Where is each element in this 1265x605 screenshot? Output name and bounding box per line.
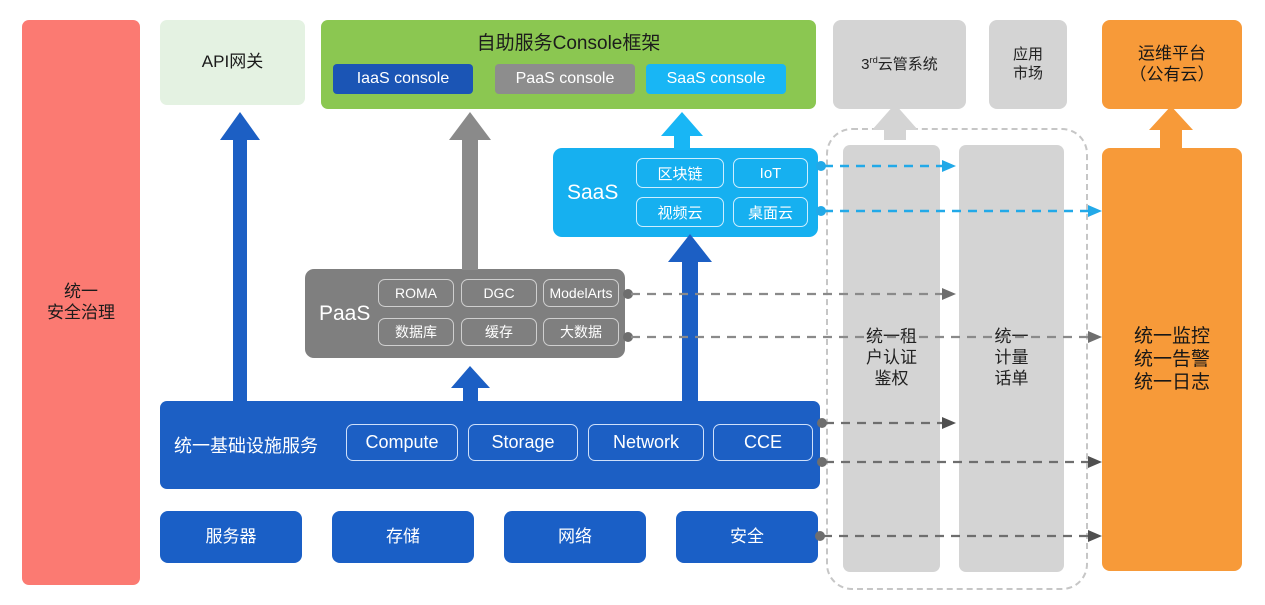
ops-line-3: 统一日志 xyxy=(1134,371,1210,394)
paas-label: PaaS xyxy=(319,269,370,358)
arrow-infra-to-apigw xyxy=(220,112,260,405)
chip-infra-network[interactable]: Network xyxy=(588,424,704,461)
panel-resource-server[interactable]: 服务器 xyxy=(160,511,302,563)
security-line-2: 安全治理 xyxy=(47,303,115,324)
chip-infra-storage[interactable]: Storage xyxy=(468,424,578,461)
chip-paas-roma[interactable]: ROMA xyxy=(378,279,454,307)
ops-line-1: 统一监控 xyxy=(1134,325,1210,348)
chip-paas-cache[interactable]: 缓存 xyxy=(461,318,537,346)
panel-resource-network[interactable]: 网络 xyxy=(504,511,646,563)
arrow-saas-to-console xyxy=(661,112,703,150)
arrow-paas-to-console xyxy=(449,112,491,270)
security-line-1: 统一 xyxy=(64,282,98,303)
panel-app-market: 应用 市场 xyxy=(989,20,1067,109)
panel-unified-security: 统一 安全治理 xyxy=(22,20,140,585)
app-market-line-2: 市场 xyxy=(1013,65,1043,83)
tenant-auth-line-2: 户认证 xyxy=(866,348,917,369)
metering-line-1: 统一 xyxy=(995,327,1029,348)
panel-ops-platform-public-cloud: 运维平台 （公有云） xyxy=(1102,20,1242,109)
ops-top-line-2: （公有云） xyxy=(1130,65,1215,86)
pill-saas-console[interactable]: SaaS console xyxy=(646,64,786,94)
panel-third-party-cloud-mgmt: 3rd云管系统 xyxy=(833,20,966,109)
saas-label: SaaS xyxy=(567,148,618,237)
api-gateway-label: API网关 xyxy=(202,52,263,73)
panel-resource-storage[interactable]: 存储 xyxy=(332,511,474,563)
ops-top-line-1: 运维平台 xyxy=(1138,44,1206,65)
column-unified-metering-billing: 统一 计量 话单 xyxy=(959,145,1064,572)
arrow-infra-to-saas xyxy=(668,234,712,402)
panel-console-framework: 自助服务Console框架 IaaS console PaaS console … xyxy=(321,20,816,109)
panel-saas: SaaS 区块链 IoT 视频云 桌面云 xyxy=(553,148,818,237)
panel-unified-infrastructure: 统一基础设施服务 Compute Storage Network CCE xyxy=(160,401,820,489)
pill-paas-console[interactable]: PaaS console xyxy=(495,64,635,94)
pill-iaas-console[interactable]: IaaS console xyxy=(333,64,473,94)
panel-resource-security[interactable]: 安全 xyxy=(676,511,818,563)
panel-paas: PaaS ROMA DGC ModelArts 数据库 缓存 大数据 xyxy=(305,269,625,358)
chip-saas-desktop-cloud[interactable]: 桌面云 xyxy=(733,197,808,227)
chip-saas-iot[interactable]: IoT xyxy=(733,158,808,188)
arrow-infra-to-paas xyxy=(451,366,490,403)
architecture-diagram: 统一 安全治理 API网关 自助服务Console框架 IaaS console… xyxy=(0,0,1265,605)
panel-api-gateway[interactable]: API网关 xyxy=(160,20,305,105)
chip-saas-blockchain[interactable]: 区块链 xyxy=(636,158,724,188)
chip-infra-compute[interactable]: Compute xyxy=(346,424,458,461)
chip-paas-database[interactable]: 数据库 xyxy=(378,318,454,346)
chip-paas-modelarts[interactable]: ModelArts xyxy=(543,279,619,307)
panel-unified-ops: 统一监控 统一告警 统一日志 xyxy=(1102,148,1242,571)
app-market-line-1: 应用 xyxy=(1013,46,1043,64)
metering-line-2: 计量 xyxy=(995,348,1029,369)
ops-line-2: 统一告警 xyxy=(1134,348,1210,371)
metering-line-3: 话单 xyxy=(995,369,1029,390)
infrastructure-label: 统一基础设施服务 xyxy=(174,401,318,489)
chip-paas-bigdata[interactable]: 大数据 xyxy=(543,318,619,346)
chip-infra-cce[interactable]: CCE xyxy=(713,424,813,461)
tenant-auth-line-3: 鉴权 xyxy=(875,369,909,390)
column-unified-tenant-auth: 统一租 户认证 鉴权 xyxy=(843,145,940,572)
tenant-auth-line-1: 统一租 xyxy=(866,327,917,348)
arrow-ops-to-ops-platform xyxy=(1149,106,1193,150)
console-framework-title: 自助服务Console框架 xyxy=(321,28,816,55)
chip-saas-video-cloud[interactable]: 视频云 xyxy=(636,197,724,227)
third-party-label: 3rd云管系统 xyxy=(861,55,938,74)
chip-paas-dgc[interactable]: DGC xyxy=(461,279,537,307)
